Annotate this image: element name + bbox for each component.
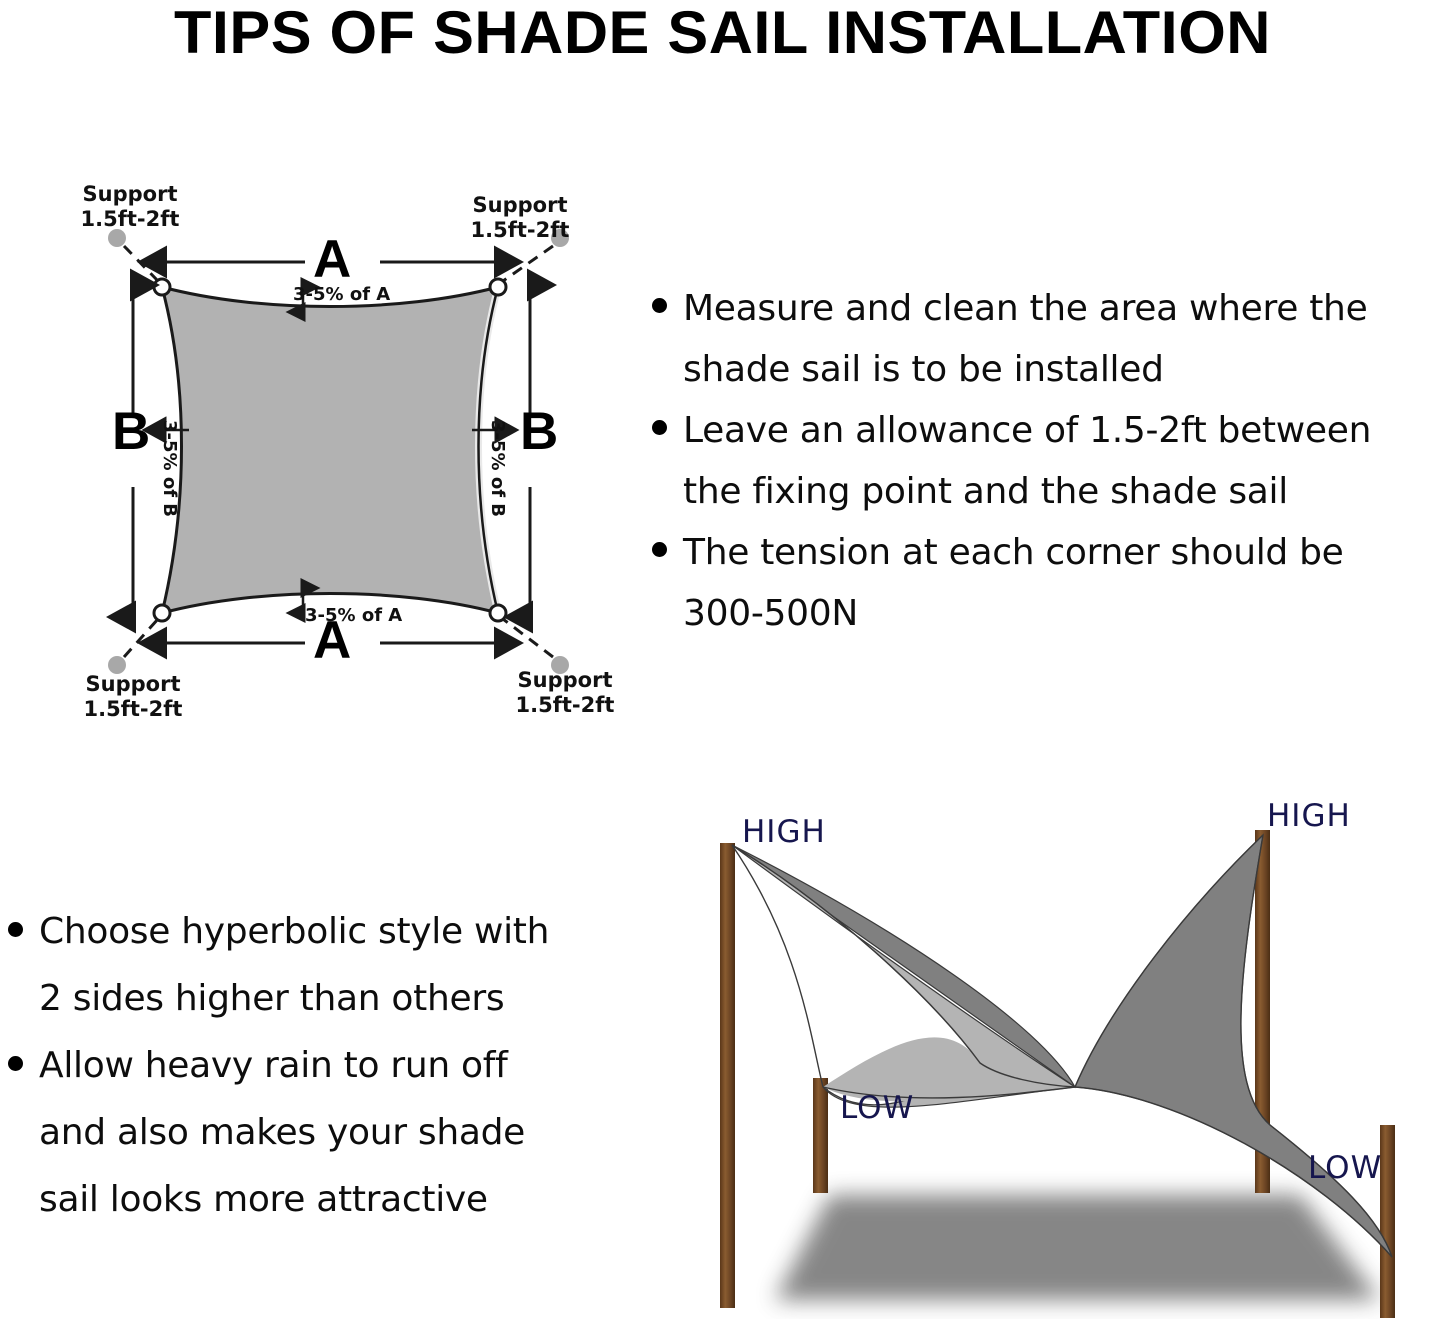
list-item: Leave an allowance of 1.5-2ft between th… bbox=[652, 400, 1445, 522]
list-item: Choose hyperbolic style with 2 sides hig… bbox=[8, 898, 628, 1032]
tips-list-right: Measure and clean the area where the sha… bbox=[652, 278, 1445, 644]
support-label-top-right: Support 1.5ft-2ft bbox=[455, 193, 585, 243]
curvature-label-bottom: 3-5% of A bbox=[305, 605, 402, 626]
tips-list-left: Choose hyperbolic style with 2 sides hig… bbox=[8, 898, 628, 1233]
support-label-bottom-right: Support 1.5ft-2ft bbox=[500, 668, 630, 718]
tip-text: Allow heavy rain to run off and also mak… bbox=[39, 1032, 525, 1233]
ground-shadow bbox=[775, 1195, 1380, 1300]
bullet-dot-icon bbox=[8, 1056, 23, 1071]
label-low-front-right: LOW bbox=[1308, 1153, 1382, 1184]
dimension-label-a-top: A bbox=[313, 233, 351, 286]
sail-panel-dark bbox=[732, 835, 1392, 1257]
bullet-dot-icon bbox=[652, 420, 667, 435]
bullet-dot-icon bbox=[8, 922, 23, 937]
tip-text: Choose hyperbolic style with 2 sides hig… bbox=[39, 898, 549, 1032]
list-item: Measure and clean the area where the sha… bbox=[652, 278, 1445, 400]
dimension-label-b-right: B bbox=[520, 405, 558, 458]
page-title: TIPS OF SHADE SAIL INSTALLATION bbox=[0, 2, 1445, 64]
curvature-label-right: 3-5% of B bbox=[487, 420, 508, 517]
sail-surface bbox=[162, 287, 498, 613]
label-low-front-left: LOW bbox=[840, 1093, 914, 1124]
list-item: The tension at each corner should be 300… bbox=[652, 522, 1445, 644]
curvature-label-left: 3-5% of B bbox=[159, 420, 180, 517]
label-high-back-left: HIGH bbox=[742, 817, 826, 848]
curvature-label-top: 3-5% of A bbox=[293, 284, 390, 305]
hyperbolic-sail-svg bbox=[680, 795, 1445, 1319]
label-high-back-right: HIGH bbox=[1267, 801, 1351, 832]
list-item: Allow heavy rain to run off and also mak… bbox=[8, 1032, 628, 1233]
bullet-dot-icon bbox=[652, 298, 667, 313]
sail-edge-left-concave bbox=[732, 845, 823, 1087]
post-back-left bbox=[720, 843, 735, 1308]
tip-text: The tension at each corner should be 300… bbox=[683, 522, 1344, 644]
tip-text: Measure and clean the area where the sha… bbox=[683, 278, 1367, 400]
dimension-label-b-left: B bbox=[112, 405, 150, 458]
bullet-dot-icon bbox=[652, 542, 667, 557]
tip-text: Leave an allowance of 1.5-2ft between th… bbox=[683, 400, 1371, 522]
post-front-right bbox=[1380, 1125, 1395, 1318]
hyperbolic-shade-sail-illustration: HIGH HIGH LOW LOW bbox=[680, 795, 1445, 1319]
support-label-top-left: Support 1.5ft-2ft bbox=[65, 182, 195, 232]
corner-eyelet-icon bbox=[154, 605, 170, 621]
post-front-left bbox=[813, 1078, 828, 1193]
support-label-bottom-left: Support 1.5ft-2ft bbox=[68, 672, 198, 722]
